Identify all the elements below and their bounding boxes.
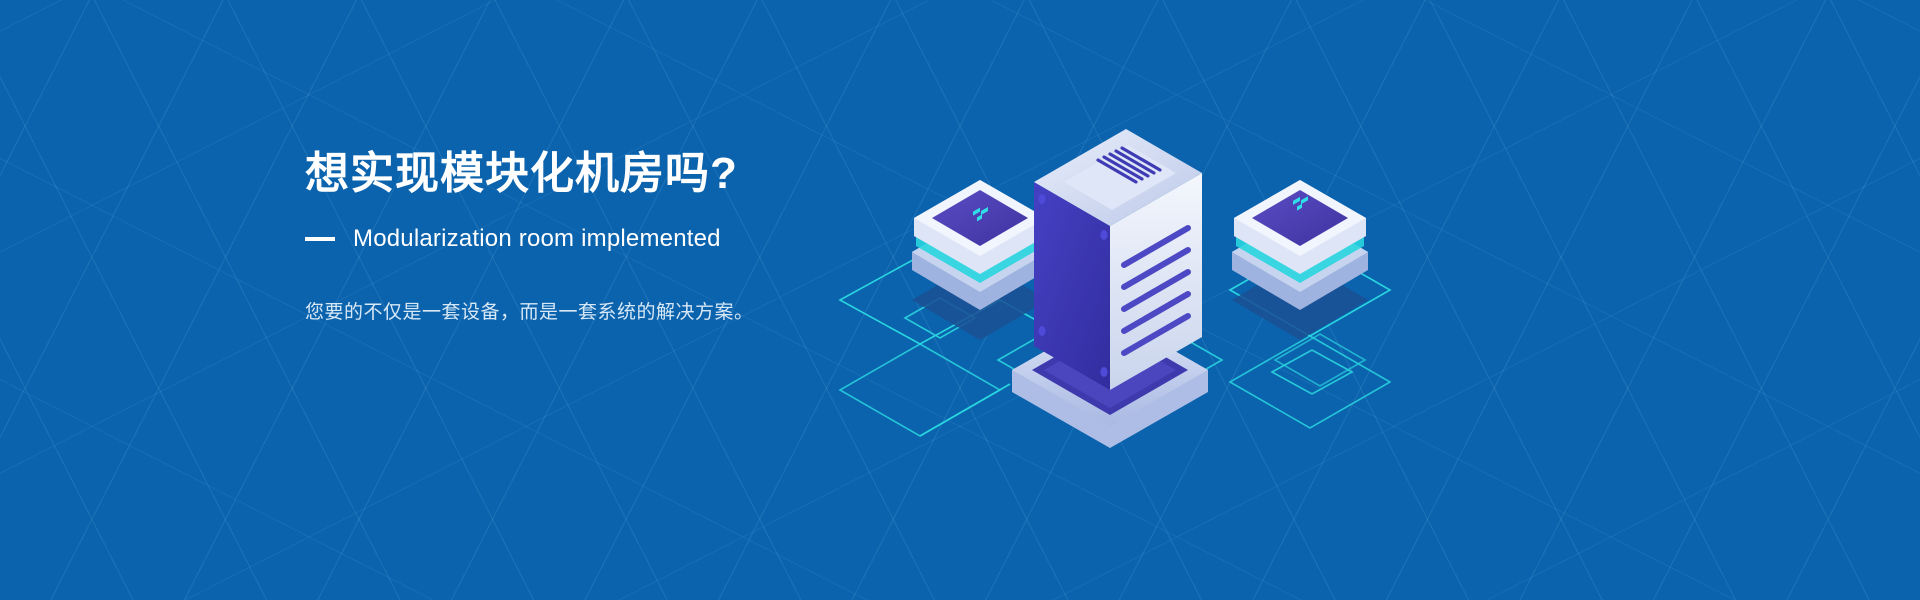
screw-top-left-icon (1038, 194, 1045, 204)
screw-bottom-right-icon (1100, 367, 1107, 377)
page-subtitle: Modularization room implemented (353, 225, 721, 253)
chip-module-right (1232, 180, 1368, 340)
server-tower (1012, 129, 1208, 448)
isometric-server-room-illustration (820, 60, 1460, 540)
dash-divider-icon (305, 237, 335, 241)
hero-banner: 想实现模块化机房吗? Modularization room implement… (0, 0, 1920, 600)
screw-bottom-left-icon (1038, 326, 1045, 336)
screw-top-right-icon (1100, 230, 1107, 240)
